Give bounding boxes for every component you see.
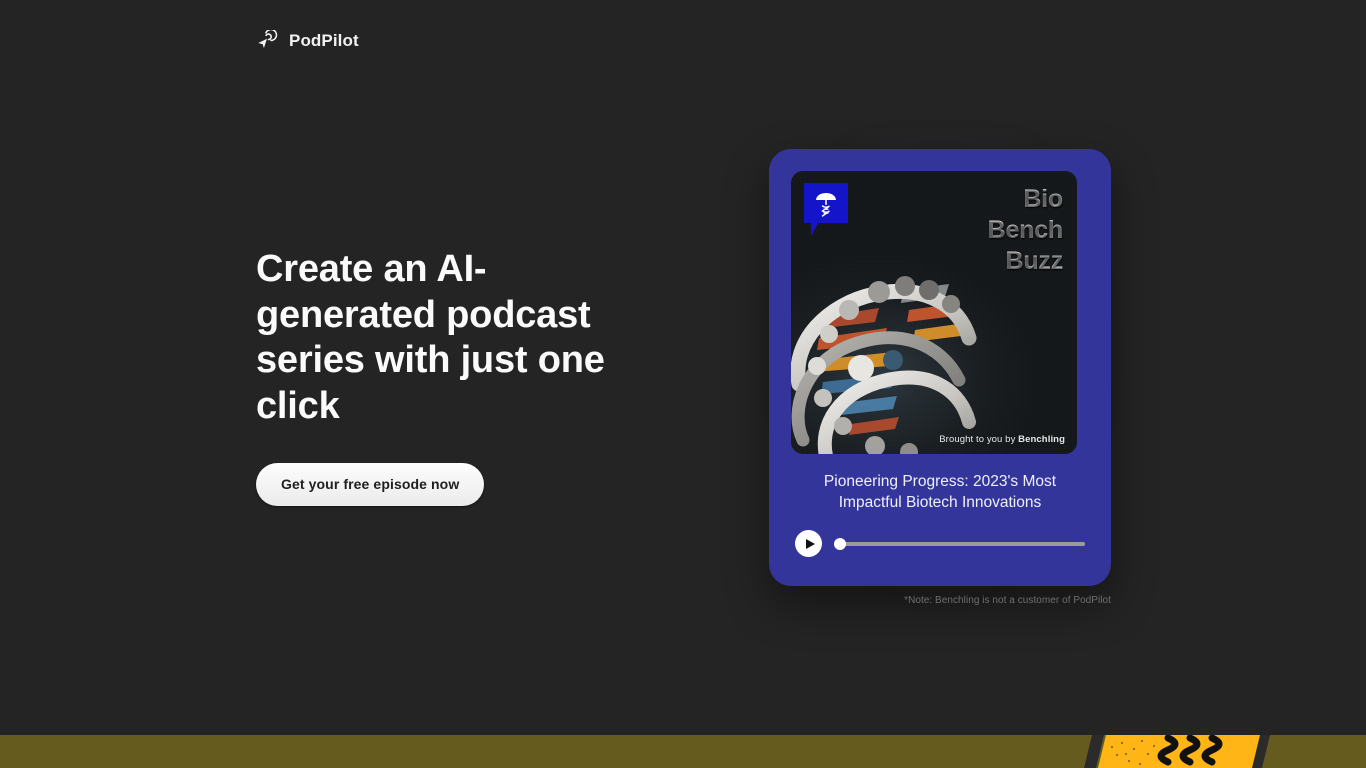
triple-wave-icon [1082, 735, 1280, 768]
cover-title-line-2: Bench [863, 215, 1063, 246]
speech-bubble-scientist-dna-icon [804, 183, 848, 241]
progress-slider[interactable] [834, 537, 1085, 551]
podcast-cover-art: Bio Bench Buzz Brought to you by Benchli… [791, 171, 1077, 454]
episode-title: Pioneering Progress: 2023's Most Impactf… [791, 471, 1089, 513]
page-title: Create an AI-generated podcast series wi… [256, 247, 616, 429]
podcast-card: Bio Bench Buzz Brought to you by Benchli… [769, 149, 1111, 586]
progress-track [834, 542, 1085, 546]
cover-credit: Brought to you by Benchling [939, 434, 1065, 445]
brand-name: PodPilot [289, 31, 359, 51]
bottom-band [0, 735, 1366, 768]
progress-thumb[interactable] [834, 538, 846, 550]
audio-player [791, 530, 1089, 557]
cover-title: Bio Bench Buzz [863, 184, 1063, 277]
hero-copy: Create an AI-generated podcast series wi… [256, 247, 616, 506]
cover-title-line-3: Buzz [863, 246, 1063, 277]
cover-credit-brand: Benchling [1018, 434, 1065, 445]
play-button[interactable] [795, 530, 822, 557]
site-header: PodPilot [256, 30, 359, 52]
dna-helix-illustration [791, 264, 1013, 454]
get-free-episode-button[interactable]: Get your free episode now [256, 463, 484, 506]
paper-plane-podcast-icon [256, 30, 278, 52]
cover-credit-prefix: Brought to you by [939, 434, 1015, 445]
card-footnote: *Note: Benchling is not a customer of Po… [769, 595, 1111, 606]
podcast-card-region: Bio Bench Buzz Brought to you by Benchli… [736, 118, 1146, 628]
play-icon [806, 539, 815, 549]
cover-title-line-1: Bio [863, 184, 1063, 215]
